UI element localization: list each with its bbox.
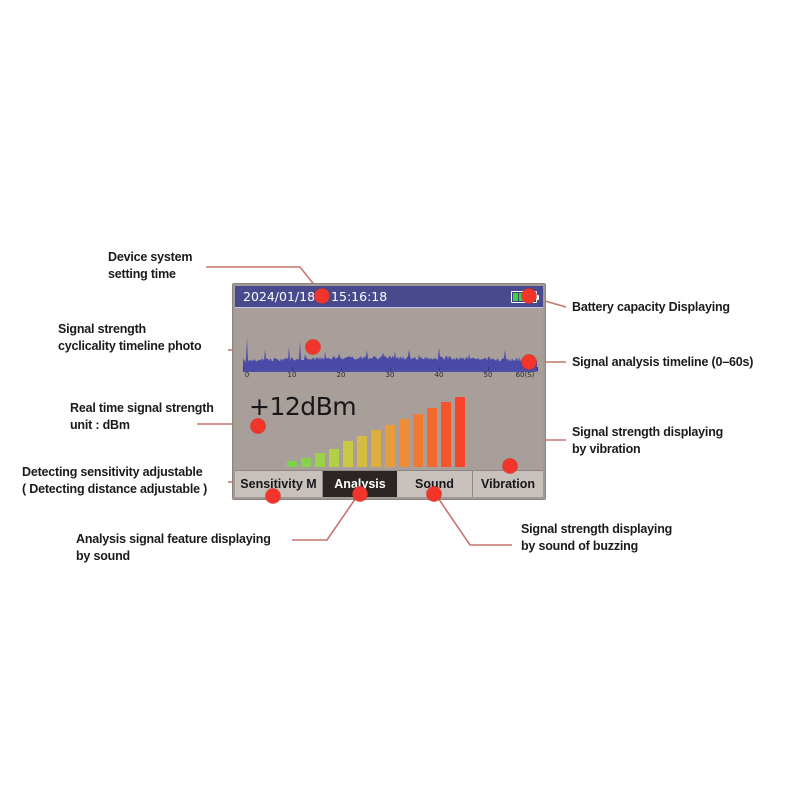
level-bar bbox=[385, 425, 395, 467]
level-bar bbox=[329, 449, 339, 467]
level-bar bbox=[441, 402, 451, 467]
level-bar bbox=[357, 436, 367, 467]
marker-dot-sensitivity bbox=[266, 489, 281, 504]
level-bar bbox=[413, 414, 423, 467]
callout-buzzing: Signal strength displaying by sound of b… bbox=[521, 521, 672, 555]
level-bar bbox=[343, 441, 353, 467]
marker-dot-sound bbox=[427, 487, 442, 502]
marker-dot-vibration bbox=[503, 459, 518, 474]
timeline-axis: 0102030405060(S) bbox=[243, 370, 537, 382]
device-screen: 2024/01/18 15:16:18 0102030405060(S) +12… bbox=[235, 286, 543, 497]
level-bar bbox=[399, 419, 409, 467]
signal-waveform bbox=[243, 330, 537, 370]
marker-dot-realtime bbox=[251, 419, 266, 434]
marker-dot-battery bbox=[522, 289, 537, 304]
callout-timeline: Signal analysis timeline (0–60s) bbox=[572, 354, 753, 371]
level-bar bbox=[287, 461, 297, 467]
callout-device-time: Device system setting time bbox=[108, 249, 192, 283]
level-bar bbox=[427, 408, 437, 467]
marker-dot-device-time bbox=[315, 289, 330, 304]
axis-tick-label: 40 bbox=[435, 371, 444, 379]
axis-tick-label: 50 bbox=[484, 371, 493, 379]
axis-tick-label: 10 bbox=[288, 371, 297, 379]
axis-tick-label: 20 bbox=[337, 371, 346, 379]
tab-vibration[interactable]: Vibration bbox=[473, 471, 543, 497]
signal-waveform-panel bbox=[243, 330, 537, 370]
callout-battery: Battery capacity Displaying bbox=[572, 299, 730, 316]
axis-tick-mark bbox=[439, 367, 440, 371]
callout-cyclicality: Signal strength cyclicality timeline pho… bbox=[58, 321, 201, 355]
axis-tick-mark bbox=[537, 367, 538, 371]
waveform-path bbox=[243, 337, 537, 370]
axis-tick-mark bbox=[243, 367, 244, 371]
tab-bar: Sensitivity MAnalysisSoundVibration bbox=[235, 470, 543, 497]
signal-level-meter bbox=[287, 395, 487, 467]
callout-realtime: Real time signal strength unit : dBm bbox=[70, 400, 214, 434]
level-bar bbox=[371, 430, 381, 467]
marker-dot-analysis bbox=[353, 487, 368, 502]
axis-tick-mark bbox=[488, 367, 489, 371]
axis-tick-mark bbox=[390, 367, 391, 371]
marker-dot-timeline bbox=[522, 355, 537, 370]
axis-tick-label: 30 bbox=[386, 371, 395, 379]
detector-device: 2024/01/18 15:16:18 0102030405060(S) +12… bbox=[232, 283, 546, 500]
callout-vibration: Signal strength displaying by vibration bbox=[572, 424, 723, 458]
battery-segment bbox=[513, 293, 518, 301]
system-time: 15:16:18 bbox=[331, 289, 387, 304]
level-bar bbox=[455, 397, 465, 467]
axis-tick-mark bbox=[341, 367, 342, 371]
status-bar: 2024/01/18 15:16:18 bbox=[235, 286, 543, 308]
axis-tick-label: 60(S) bbox=[516, 371, 535, 379]
axis-tick-mark bbox=[292, 367, 293, 371]
level-bar bbox=[301, 458, 311, 467]
callout-sensitivity: Detecting sensitivity adjustable ( Detec… bbox=[22, 464, 207, 498]
system-date: 2024/01/18 bbox=[243, 289, 315, 304]
marker-dot-cyclicality bbox=[306, 340, 321, 355]
level-bar bbox=[315, 453, 325, 467]
axis-tick-label: 0 bbox=[245, 371, 249, 379]
callout-analysis-sound: Analysis signal feature displaying by so… bbox=[76, 531, 271, 565]
